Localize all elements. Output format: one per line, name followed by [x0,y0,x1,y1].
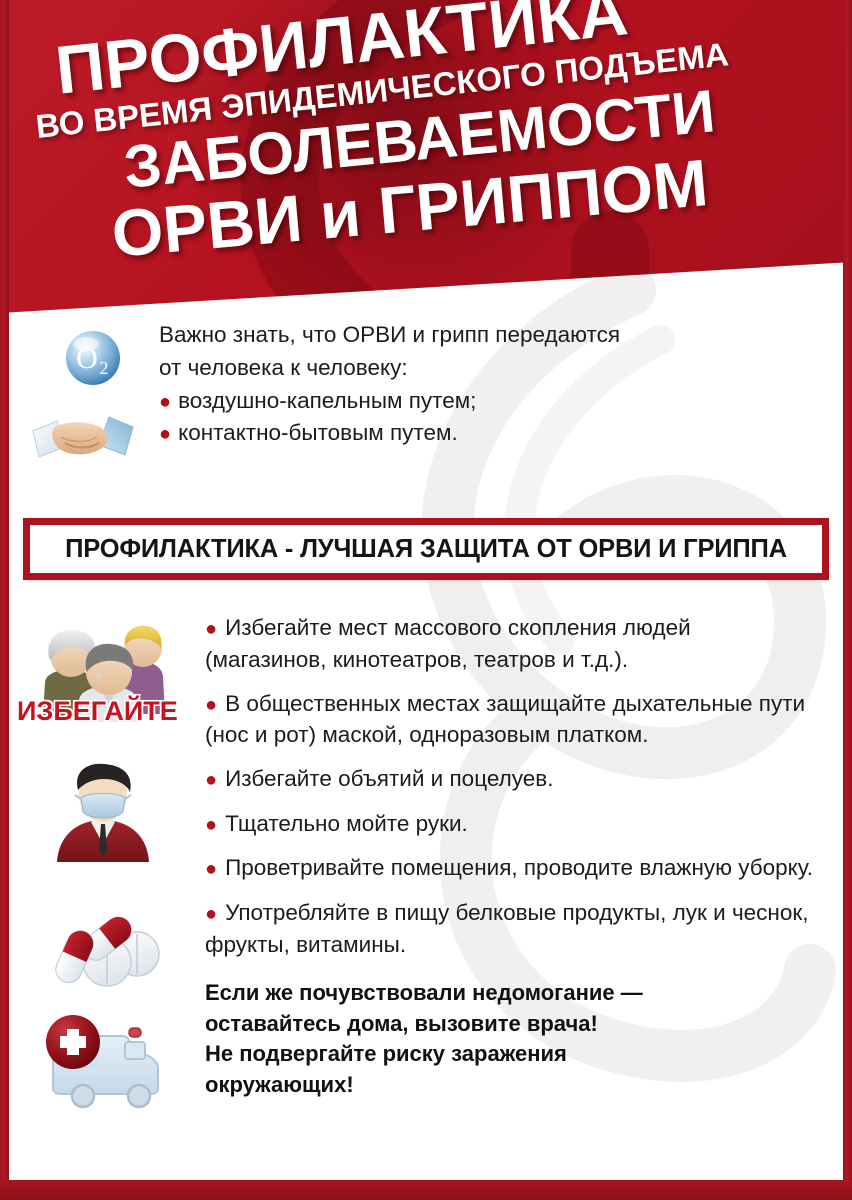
measure-item-label: В общественных местах защищайте дыхатель… [205,691,805,748]
frame-border-bottom [0,1180,852,1200]
transmission-item: ● контактно-бытовым путем. [159,417,803,449]
pills-and-tablets-icon [41,910,163,1002]
bullet-dot-icon: ● [205,903,217,925]
bullet-dot-icon: ● [205,769,217,791]
poster-body: O 2 [9,262,843,1180]
frame-border-right [843,0,852,1200]
transmission-icon-column: O 2 [9,320,159,476]
prevention-banner-text: ПРОФИЛАКТИКА - ЛУЧШАЯ ЗАЩИТА ОТ ОРВИ И Г… [65,535,787,564]
frame-border-left [0,0,9,1200]
bullet-dot-icon: ● [159,392,171,412]
transmission-text-column: Важно знать, что ОРВИ и грипп передаются… [159,320,843,449]
person-wearing-mask-icon [47,758,159,866]
poster-root: ПРОФИЛАКТИКА ВО ВРЕМЯ ЭПИДЕМИЧЕСКОГО ПОД… [0,0,852,1200]
closing-line-2: оставайтесь дома, вызовите врача! [205,1011,598,1036]
measure-item-label: Употребляйте в пищу белковые продукты, л… [205,900,808,957]
ambulance-icon [39,1012,171,1110]
bullet-dot-icon: ● [205,618,217,640]
closing-line-1: Если же почувствовали недомогание — [205,980,643,1005]
closing-line-4: окружающих! [205,1072,354,1097]
measure-item-label: Избегайте объятий и поцелуев. [225,766,553,791]
bullet-dot-icon: ● [205,694,217,716]
closing-line-3: Не подвергайте риску заражения [205,1041,567,1066]
closing-statement: Если же почувствовали недомогание — оста… [205,978,817,1101]
bullet-dot-icon: ● [159,424,171,444]
avoid-stamp: ИЗБЕГАЙТЕ [17,696,178,727]
bullet-dot-icon: ● [205,814,217,836]
measure-item: ●Употребляйте в пищу белковые продукты, … [205,897,817,960]
transmission-item-label: воздушно-капельным путем; [178,385,476,417]
prevention-banner: ПРОФИЛАКТИКА - ЛУЧШАЯ ЗАЩИТА ОТ ОРВИ И Г… [23,518,829,580]
avoid-stamp-text: ИЗБЕГАЙТЕ [17,696,178,726]
measure-item: ●В общественных местах защищайте дыхател… [205,688,817,751]
measure-item: ●Избегайте объятий и поцелуев. [205,763,817,795]
transmission-intro-line-2: от человека к человеку: [159,353,803,384]
svg-text:2: 2 [100,358,109,378]
transmission-item: ● воздушно-капельным путем; [159,385,803,417]
transmission-item-label: контактно-бытовым путем. [178,417,458,449]
transmission-section: O 2 [9,320,843,476]
measure-item-label: Тщательно мойте руки. [225,811,468,836]
transmission-intro-line-1: Важно знать, что ОРВИ и грипп передаются [159,320,803,351]
measure-item: ●Избегайте мест массового скопления люде… [205,612,817,675]
measure-item: ●Тщательно мойте руки. [205,808,817,840]
measure-item-label: Проветривайте помещения, проводите влажн… [225,855,813,880]
bullet-dot-icon: ● [205,858,217,880]
measure-item-label: Избегайте мест массового скопления людей… [205,615,691,672]
measure-item: ●Проветривайте помещения, проводите влаж… [205,852,817,884]
handshake-icon [31,401,135,471]
oxygen-molecule-icon: O 2 [61,326,125,390]
measures-section: ИЗБЕГАЙТЕ [9,610,843,1101]
svg-text:O: O [76,342,98,375]
measures-text-column: ●Избегайте мест массового скопления люде… [205,610,843,1101]
